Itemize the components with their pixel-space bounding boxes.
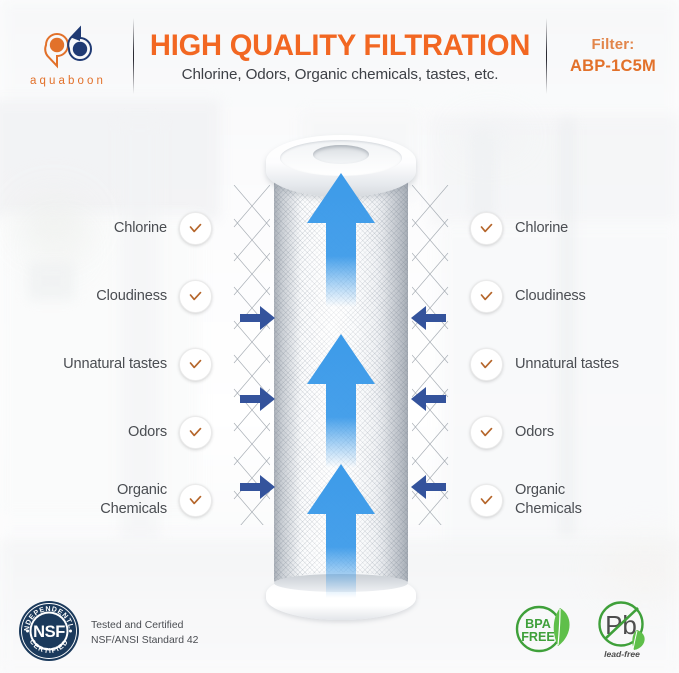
check-icon <box>179 416 212 449</box>
inward-arrow-icon <box>240 305 276 336</box>
up-arrow-icon <box>302 330 380 475</box>
page-subtitle: Chlorine, Odors, Organic chemicals, tast… <box>182 66 499 83</box>
inward-arrow-icon <box>410 474 446 505</box>
check-icon <box>470 484 503 517</box>
feature-label: Cloudiness <box>96 287 167 306</box>
brand-wordmark: aquaboon <box>27 75 106 87</box>
feature-item: Organic Chemicals <box>470 477 645 523</box>
check-icon <box>179 212 212 245</box>
check-icon <box>470 212 503 245</box>
brand-logo[interactable]: aquaboon <box>0 0 133 112</box>
feature-label: Chlorine <box>114 219 167 238</box>
feature-list-left: Chlorine Cloudiness Unnatural tastes Odo… <box>52 205 212 545</box>
nsf-certification-text: Tested and Certified NSF/ANSI Standard 4… <box>91 619 198 649</box>
check-icon <box>179 280 212 313</box>
feature-label: Organic Chemicals <box>515 481 582 518</box>
feature-item: Odors <box>470 409 645 455</box>
lead-free-caption: lead-free <box>604 649 640 659</box>
inward-arrow-icon <box>240 386 276 417</box>
lead-free-pb-icon: Pb lead-free <box>592 598 656 665</box>
filter-label: Filter: <box>591 36 634 53</box>
filter-model-block: Filter: ABP-1C5M <box>547 0 679 112</box>
feature-list-right: Chlorine Cloudiness Unnatural tastes Odo… <box>470 205 645 545</box>
up-arrow-icon <box>302 460 380 605</box>
feature-item: Odors <box>52 409 212 455</box>
svg-text:BPA: BPA <box>525 617 551 631</box>
feature-label: Cloudiness <box>515 287 586 306</box>
feature-label: Odors <box>128 423 167 442</box>
feature-label: Unnatural tastes <box>515 355 619 374</box>
bpa-free-leaf-icon: BPA FREE <box>512 602 578 661</box>
feature-item: Unnatural tastes <box>52 341 212 387</box>
feature-item: Chlorine <box>52 205 212 251</box>
check-icon <box>470 348 503 381</box>
feature-item: Cloudiness <box>52 273 212 319</box>
feature-item: Cloudiness <box>470 273 645 319</box>
water-filter-cartridge <box>246 135 436 620</box>
check-icon <box>179 348 212 381</box>
nsf-text-line-1: Tested and Certified <box>91 619 198 634</box>
feature-label: Organic Chemicals <box>100 481 167 518</box>
filter-model-number: ABP-1C5M <box>570 57 656 76</box>
inward-arrow-icon <box>240 474 276 505</box>
check-icon <box>470 416 503 449</box>
nsf-certified-seal-icon: INDEPENDENTLY CERTIFIED NSF <box>18 600 80 667</box>
svg-text:NSF: NSF <box>33 623 65 641</box>
inward-arrow-icon <box>410 305 446 336</box>
feature-item: Unnatural tastes <box>470 341 645 387</box>
up-arrow-icon <box>302 169 380 314</box>
check-icon <box>470 280 503 313</box>
svg-text:FREE: FREE <box>521 630 555 644</box>
feature-label: Odors <box>515 423 554 442</box>
eco-certifications: BPA FREE Pb lead-free <box>512 598 656 665</box>
inward-arrow-icon <box>410 386 446 417</box>
nsf-certification: INDEPENDENTLY CERTIFIED NSF Tested and C… <box>18 600 198 667</box>
feature-item: Organic Chemicals <box>52 477 212 523</box>
page-header: aquaboon HIGH QUALITY FILTRATION Chlorin… <box>0 0 679 112</box>
page-title: HIGH QUALITY FILTRATION <box>150 29 530 63</box>
check-icon <box>179 484 212 517</box>
feature-label: Unnatural tastes <box>63 355 167 374</box>
aquaboon-droplet-logo-icon <box>36 25 98 69</box>
nsf-text-line-2: NSF/ANSI Standard 42 <box>91 634 198 649</box>
feature-item: Chlorine <box>470 205 645 251</box>
header-title-block: HIGH QUALITY FILTRATION Chlorine, Odors,… <box>134 0 546 112</box>
feature-label: Chlorine <box>515 219 568 238</box>
